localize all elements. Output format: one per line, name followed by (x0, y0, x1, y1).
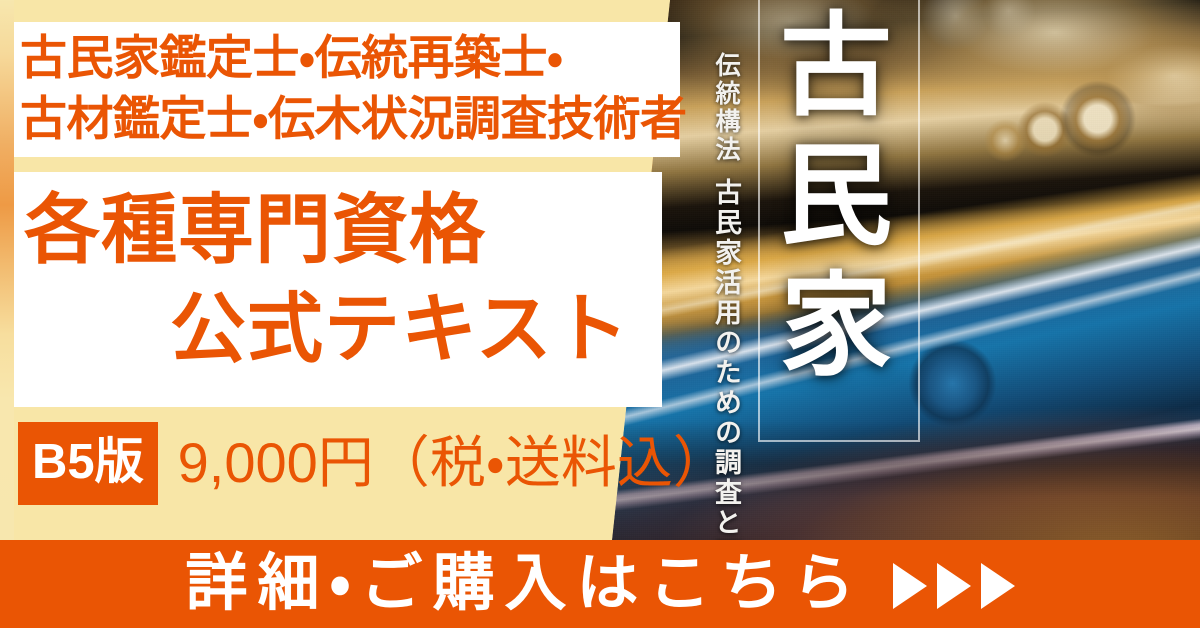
play-arrow-icon-3 (981, 563, 1015, 609)
main-headline-line-1: 各種専門資格 (18, 182, 678, 281)
cta-arrow-group (893, 563, 1015, 609)
price-amount: 9,000円（税・送料込） (178, 435, 729, 491)
format-badge-b5: B5版 (18, 422, 158, 505)
qualification-headline: 古民家鑑定士・伝統再築士・ 古材鑑定士・伝木状況調査技術者 (20, 27, 720, 149)
promo-banner: 古民家 伝統構法 古民家活用のための調査と再生の 古民家鑑定士・伝統再築士・ 古… (0, 0, 1200, 628)
book-cover-title: 古民家 (786, 6, 898, 396)
cta-label: 詳細・ご購入はこちら (185, 553, 864, 615)
main-headline: 各種専門資格 公式テキスト (18, 182, 678, 380)
price-row: B5版 9,000円（税・送料込） (18, 421, 729, 505)
main-headline-line-2: 公式テキスト (18, 281, 678, 380)
play-arrow-icon-2 (937, 563, 971, 609)
play-arrow-icon-1 (893, 563, 927, 609)
qualification-headline-line-1: 古民家鑑定士・伝統再築士・ (20, 27, 720, 88)
qualification-headline-line-2: 古材鑑定士・伝木状況調査技術者 (20, 88, 720, 149)
cta-bar[interactable]: 詳細・ご購入はこちら (0, 540, 1200, 628)
